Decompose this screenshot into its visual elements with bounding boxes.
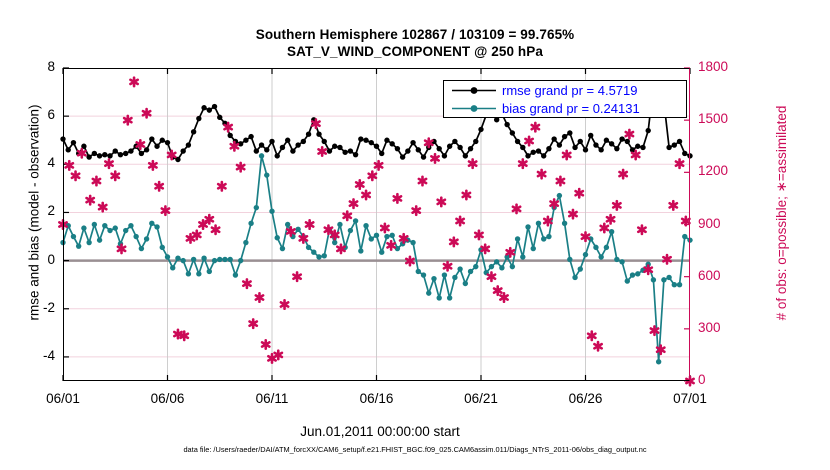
y-tick-label-right: 0 xyxy=(698,372,744,387)
y-axis-right-label: # of obs: o=possible; ∗=assimilated xyxy=(774,43,790,383)
y-axis-left-label: rmse and bias (model - observation) xyxy=(27,43,42,383)
y-tick-label-right: 1200 xyxy=(698,163,744,178)
chart-legend[interactable]: rmse grand pr = 4.5719 bias grand pr = 0… xyxy=(443,80,687,118)
chart-figure: Southern Hemisphere 102867 / 103109 = 99… xyxy=(0,0,830,470)
y-tick-label-right: 600 xyxy=(698,268,744,283)
x-tick-label: 06/21 xyxy=(446,391,516,406)
legend-swatch-rmse xyxy=(450,81,498,100)
legend-label-bias: bias grand pr = 0.24131 xyxy=(502,99,640,118)
x-tick-label: 06/26 xyxy=(551,391,621,406)
legend-row-rmse[interactable]: rmse grand pr = 4.5719 xyxy=(444,81,688,100)
y-tick-label-right: 1500 xyxy=(698,111,744,126)
x-tick-label: 07/01 xyxy=(655,391,725,406)
y-tick-label-right: 1800 xyxy=(698,59,744,74)
legend-swatch-bias xyxy=(450,99,498,118)
data-file-footer: data file: /Users/raeder/DAI/ATM_forcXX/… xyxy=(0,445,830,454)
x-axis-label: Jun.01,2011 00:00:00 start xyxy=(0,424,760,439)
x-tick-label: 06/16 xyxy=(342,391,412,406)
x-tick-label: 06/01 xyxy=(28,391,98,406)
y-tick-label-right: 300 xyxy=(698,320,744,335)
legend-label-rmse: rmse grand pr = 4.5719 xyxy=(502,81,638,100)
legend-row-bias[interactable]: bias grand pr = 0.24131 xyxy=(444,99,688,118)
x-tick-label: 06/06 xyxy=(133,391,203,406)
x-tick-label: 06/11 xyxy=(237,391,307,406)
y-tick-label-right: 900 xyxy=(698,216,744,231)
